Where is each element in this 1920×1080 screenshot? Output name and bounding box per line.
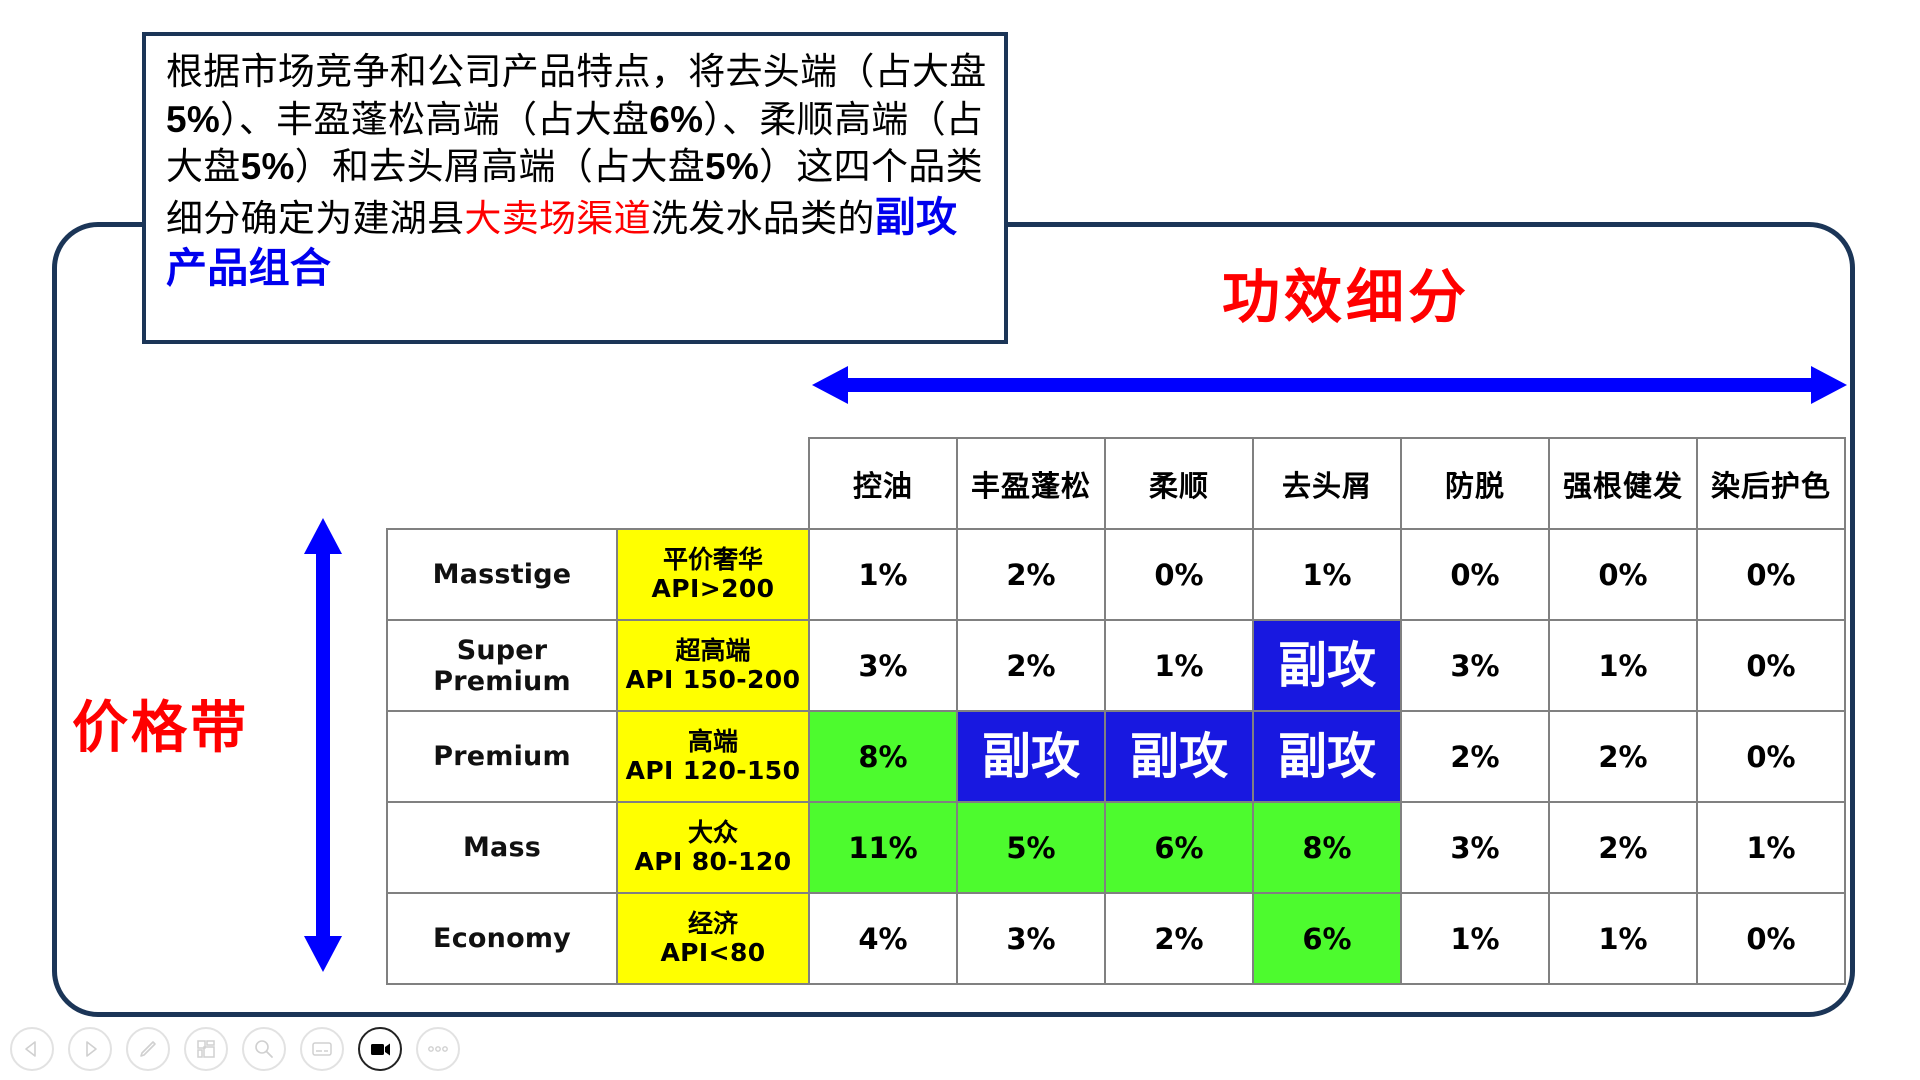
- note-seg-5: ）和去头屑高端: [295, 147, 556, 188]
- cell-r4-c1: 3%: [957, 893, 1105, 984]
- focus-label: 副攻: [1254, 641, 1400, 690]
- cell-r3-c6: 1%: [1697, 802, 1845, 893]
- row-tier-1: 超高端API 150-200: [617, 620, 809, 711]
- cell-r3-c3: 8%: [1253, 802, 1401, 893]
- cell-r1-c0: 3%: [809, 620, 957, 711]
- magnifier-icon: [253, 1038, 275, 1060]
- next-button[interactable]: [68, 1027, 112, 1071]
- cell-r1-c4: 3%: [1401, 620, 1549, 711]
- cell-r2-c0: 8%: [809, 711, 957, 802]
- focus-label: 副攻: [1254, 732, 1400, 781]
- note-seg-1: 根据市场竞争和公司产品特点，将去头: [166, 52, 800, 93]
- axis-title-top: 功效细分: [1222, 250, 1470, 334]
- row-tier-4: 经济API<80: [617, 893, 809, 984]
- row-label-2: Premium: [387, 711, 617, 802]
- cell-r3-c1: 5%: [957, 802, 1105, 893]
- cell-r2-c2: 副攻: [1105, 711, 1253, 802]
- row-tier-3: 大众API 80-120: [617, 802, 809, 893]
- previous-icon: [22, 1039, 42, 1059]
- next-icon: [80, 1039, 100, 1059]
- focus-label: 副攻: [1106, 732, 1252, 781]
- row-tier-2: 高端API 120-150: [617, 711, 809, 802]
- more-icon: [426, 1044, 450, 1054]
- column-header-2: 柔顺: [1105, 438, 1253, 529]
- cell-r1-c1: 2%: [957, 620, 1105, 711]
- row-tier-cn-2: 高端: [622, 729, 804, 757]
- note-seg-8: 洗发水品类的: [651, 199, 875, 240]
- column-header-3: 去头屑: [1253, 438, 1401, 529]
- row-tier-0: 平价奢华API>200: [617, 529, 809, 620]
- cell-r0-c4: 0%: [1401, 529, 1549, 620]
- cell-r4-c0: 4%: [809, 893, 957, 984]
- slides-icon: [195, 1038, 217, 1060]
- matrix-row: Economy经济API<804%3%2%6%1%1%0%: [387, 893, 1845, 984]
- cell-r1-c3: 副攻: [1253, 620, 1401, 711]
- row-label-1: Super Premium: [387, 620, 617, 711]
- cell-r3-c0: 11%: [809, 802, 957, 893]
- row-label-3: Mass: [387, 802, 617, 893]
- cell-r4-c2: 2%: [1105, 893, 1253, 984]
- record-button[interactable]: [358, 1027, 402, 1071]
- matrix-row: Mass大众API 80-12011%5%6%8%3%2%1%: [387, 802, 1845, 893]
- cell-r4-c5: 1%: [1549, 893, 1697, 984]
- column-header-6: 染后护色: [1697, 438, 1845, 529]
- pen-button[interactable]: [126, 1027, 170, 1071]
- cell-r0-c1: 2%: [957, 529, 1105, 620]
- cell-r1-c2: 1%: [1105, 620, 1253, 711]
- magnifier-button[interactable]: [242, 1027, 286, 1071]
- note-pct-5b: 5%: [241, 146, 295, 187]
- axis-title-left: 价格带: [72, 683, 249, 764]
- note-seg-6: （占大盘: [556, 147, 705, 188]
- subtitle-icon: [310, 1037, 334, 1061]
- subtitle-button[interactable]: [300, 1027, 344, 1071]
- row-tier-api-0: API>200: [622, 575, 804, 603]
- row-tier-cn-3: 大众: [622, 820, 804, 848]
- row-tier-cn-1: 超高端: [622, 638, 804, 666]
- cell-r2-c5: 2%: [1549, 711, 1697, 802]
- cell-r1-c5: 1%: [1549, 620, 1697, 711]
- row-tier-api-4: API<80: [622, 939, 804, 967]
- row-tier-api-3: API 80-120: [622, 848, 804, 876]
- cell-r0-c3: 1%: [1253, 529, 1401, 620]
- cell-r2-c6: 0%: [1697, 711, 1845, 802]
- note-pct-5a: 5%: [166, 99, 220, 140]
- cell-r3-c5: 2%: [1549, 802, 1697, 893]
- cell-r4-c4: 1%: [1401, 893, 1549, 984]
- cell-r3-c4: 3%: [1401, 802, 1549, 893]
- cell-r0-c6: 0%: [1697, 529, 1845, 620]
- vertical-axis-arrow: [300, 518, 346, 972]
- matrix-corner-blank: [387, 438, 617, 529]
- previous-button[interactable]: [10, 1027, 54, 1071]
- record-icon: [368, 1037, 392, 1061]
- cell-r3-c2: 6%: [1105, 802, 1253, 893]
- column-header-0: 控油: [809, 438, 957, 529]
- cell-r4-c3: 6%: [1253, 893, 1401, 984]
- horizontal-axis-arrow: [812, 362, 1847, 408]
- more-button[interactable]: [416, 1027, 460, 1071]
- row-tier-cn-4: 经济: [622, 911, 804, 939]
- note-pct-6: 6%: [649, 99, 703, 140]
- cell-r2-c3: 副攻: [1253, 711, 1401, 802]
- row-tier-cn-0: 平价奢华: [622, 547, 804, 575]
- pen-icon: [137, 1038, 159, 1060]
- slide-canvas: 功效细分 价格带 控油 丰盈蓬松 柔顺 去头屑 防脱 强根健发 染后护色 Mas…: [0, 0, 1920, 1080]
- matrix-row: Masstige平价奢华API>2001%2%0%1%0%0%0%: [387, 529, 1845, 620]
- row-tier-api-1: API 150-200: [622, 666, 804, 694]
- cell-r0-c5: 0%: [1549, 529, 1697, 620]
- row-label-0: Masstige: [387, 529, 617, 620]
- matrix-corner-blank-sub: [617, 438, 809, 529]
- cell-r2-c4: 2%: [1401, 711, 1549, 802]
- matrix-row: Premium高端API 120-1508%副攻副攻副攻2%2%0%: [387, 711, 1845, 802]
- note-seg-3: ）、丰盈蓬松高端（占大盘: [220, 100, 649, 141]
- column-header-4: 防脱: [1401, 438, 1549, 529]
- focus-label: 副攻: [958, 732, 1104, 781]
- cell-r1-c6: 0%: [1697, 620, 1845, 711]
- matrix-row: Super Premium超高端API 150-2003%2%1%副攻3%1%0…: [387, 620, 1845, 711]
- slides-button[interactable]: [184, 1027, 228, 1071]
- column-header-5: 强根健发: [1549, 438, 1697, 529]
- matrix-header-row: 控油 丰盈蓬松 柔顺 去头屑 防脱 强根健发 染后护色: [387, 438, 1845, 529]
- cell-r4-c6: 0%: [1697, 893, 1845, 984]
- cell-r0-c0: 1%: [809, 529, 957, 620]
- segmentation-matrix: 控油 丰盈蓬松 柔顺 去头屑 防脱 强根健发 染后护色 Masstige平价奢华…: [386, 437, 1846, 985]
- note-seg-2: 端（占大盘: [800, 52, 987, 93]
- note-pct-5c: 5%: [705, 146, 759, 187]
- row-label-4: Economy: [387, 893, 617, 984]
- cell-r2-c1: 副攻: [957, 711, 1105, 802]
- callout-note-box: 根据市场竞争和公司产品特点，将去头端（占大盘5%）、丰盈蓬松高端（占大盘6%）、…: [142, 32, 1008, 344]
- note-red-text: 大卖场渠道: [464, 199, 651, 240]
- cell-r0-c2: 0%: [1105, 529, 1253, 620]
- bottom-toolbar: [0, 1018, 1920, 1080]
- row-tier-api-2: API 120-150: [622, 757, 804, 785]
- column-header-1: 丰盈蓬松: [957, 438, 1105, 529]
- callout-note-text: 根据市场竞争和公司产品特点，将去头端（占大盘5%）、丰盈蓬松高端（占大盘6%）、…: [166, 50, 988, 295]
